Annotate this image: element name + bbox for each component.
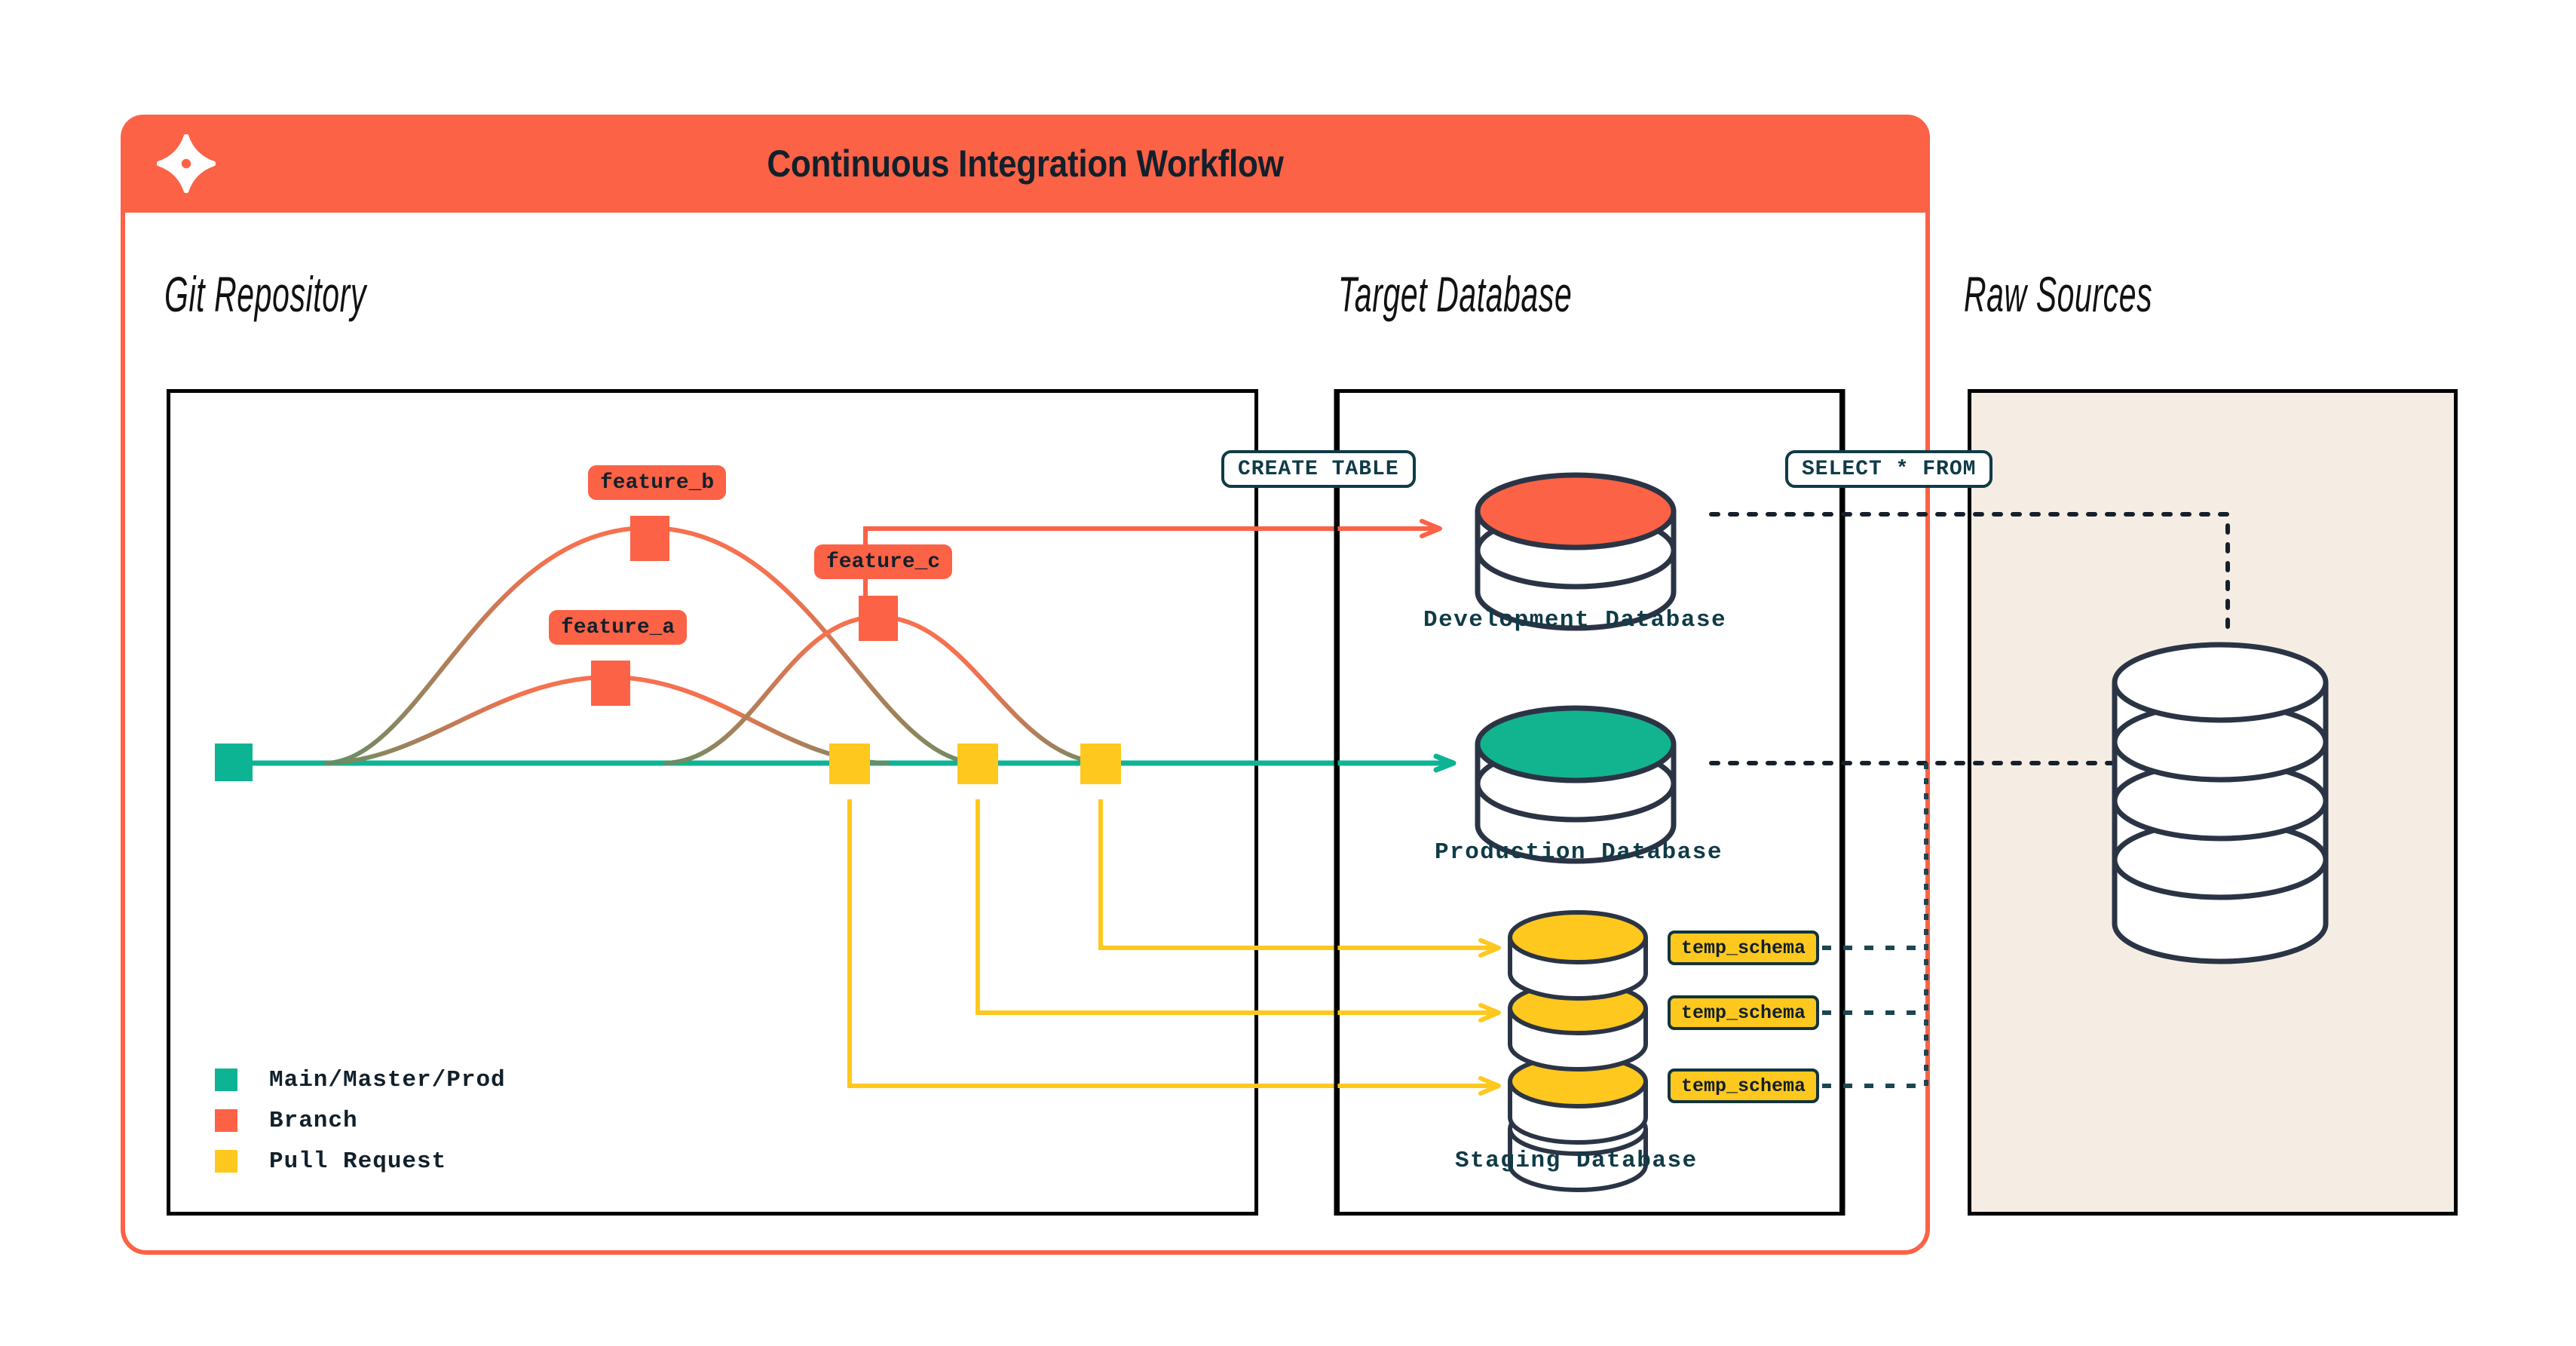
raw-sources-cylinder [2115, 645, 2326, 961]
legend-swatch-branch-icon [215, 1109, 237, 1132]
sql-badge-create-table[interactable]: CREATE TABLE [1221, 450, 1416, 488]
commit-node-feature-b[interactable] [630, 516, 669, 561]
legend-label-branch: Branch [269, 1108, 358, 1134]
development-database-cylinder [1478, 475, 1674, 628]
sql-badge-select-from[interactable]: SELECT * FROM [1785, 450, 1992, 488]
db-label-development: Development Database [1423, 607, 1726, 633]
commit-node-main[interactable] [215, 744, 253, 781]
commit-node-feature-a[interactable] [591, 661, 630, 706]
commit-node-feature-c[interactable] [859, 596, 898, 641]
branch-label-feature-c[interactable]: feature_c [814, 544, 952, 579]
commit-node-pull-request-2[interactable] [957, 744, 998, 784]
branch-label-feature-a[interactable]: feature_a [549, 610, 687, 645]
legend-item-branch: Branch [215, 1100, 506, 1141]
db-label-staging: Staging Database [1455, 1148, 1698, 1174]
diagram-root: Continuous Integration Workflow Git Repo… [0, 0, 2576, 1346]
legend: Main/Master/Prod Branch Pull Request [215, 1059, 506, 1182]
legend-label-pull-request: Pull Request [269, 1148, 446, 1175]
legend-item-main: Main/Master/Prod [215, 1059, 506, 1100]
legend-swatch-main-icon [215, 1069, 237, 1091]
legend-item-pull-request: Pull Request [215, 1141, 506, 1182]
schema-label-1[interactable]: temp_schema [1668, 931, 1819, 965]
schema-label-3[interactable]: temp_schema [1668, 1069, 1819, 1103]
production-database-cylinder [1478, 708, 1674, 861]
legend-swatch-pull-request-icon [215, 1150, 237, 1173]
commit-node-pull-request-3[interactable] [1080, 744, 1121, 784]
branch-label-feature-b[interactable]: feature_b [588, 465, 726, 500]
commit-node-pull-request-1[interactable] [829, 744, 870, 784]
schema-label-2[interactable]: temp_schema [1668, 995, 1819, 1030]
legend-label-main: Main/Master/Prod [269, 1067, 506, 1093]
db-label-production: Production Database [1435, 839, 1723, 866]
